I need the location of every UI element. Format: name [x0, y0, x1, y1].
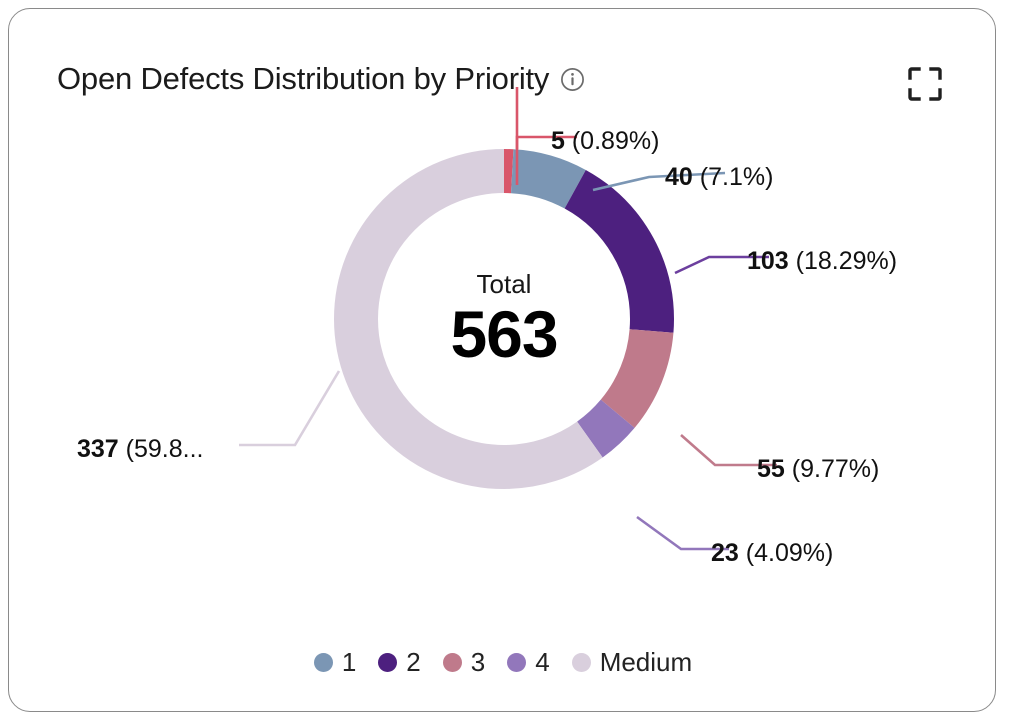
data-label-medium-pct: (59.8...: [126, 435, 204, 463]
legend-dot-icon: [572, 653, 591, 672]
data-label-critical: 5 (0.89%): [551, 129, 659, 154]
legend-label: 2: [406, 649, 420, 675]
legend-dot-icon: [507, 653, 526, 672]
legend-label: 1: [342, 649, 356, 675]
chart-card: Open Defects Distribution by Priority: [8, 8, 996, 712]
legend-dot-icon: [378, 653, 397, 672]
legend-item-4[interactable]: 4: [507, 649, 549, 675]
donut-slices: [356, 171, 652, 467]
data-label-priority-1: 40 (7.1%): [665, 165, 773, 190]
data-label-priority-3: 55 (9.77%): [757, 457, 879, 482]
legend-label: Medium: [600, 649, 692, 675]
data-label-priority-2: 103 (18.29%): [747, 249, 897, 274]
legend-item-3[interactable]: 3: [443, 649, 485, 675]
legend-dot-icon: [443, 653, 462, 672]
card-header: Open Defects Distribution by Priority: [9, 9, 995, 87]
data-label-critical-value: 5: [551, 127, 565, 155]
legend-label: 3: [471, 649, 485, 675]
data-label-priority-4-pct: (4.09%): [746, 539, 834, 567]
legend-label: 4: [535, 649, 549, 675]
screenshot-root: Open Defects Distribution by Priority: [0, 0, 1010, 728]
data-label-priority-2-pct: (18.29%): [796, 247, 897, 275]
legend-item-1[interactable]: 1: [314, 649, 356, 675]
data-label-priority-4-value: 23: [711, 539, 739, 567]
legend-item-2[interactable]: 2: [378, 649, 420, 675]
legend-item-medium[interactable]: Medium: [572, 649, 692, 675]
data-label-priority-3-pct: (9.77%): [792, 455, 880, 483]
data-label-priority-4: 23 (4.09%): [711, 541, 833, 566]
data-label-medium-value: 337: [77, 435, 119, 463]
donut-chart-area: Total 563 5 (0.89%) 40 (7.1%) 103 (18.29…: [9, 87, 997, 617]
data-label-priority-2-value: 103: [747, 247, 789, 275]
data-label-priority-1-value: 40: [665, 163, 693, 191]
chart-legend: 1 2 3 4 Medium: [9, 649, 997, 675]
data-label-medium: 337 (59.8...: [77, 437, 204, 462]
donut-chart-svg: [9, 87, 997, 617]
data-label-critical-pct: (0.89%): [572, 127, 660, 155]
data-label-priority-3-value: 55: [757, 455, 785, 483]
legend-dot-icon: [314, 653, 333, 672]
data-label-priority-1-pct: (7.1%): [700, 163, 774, 191]
